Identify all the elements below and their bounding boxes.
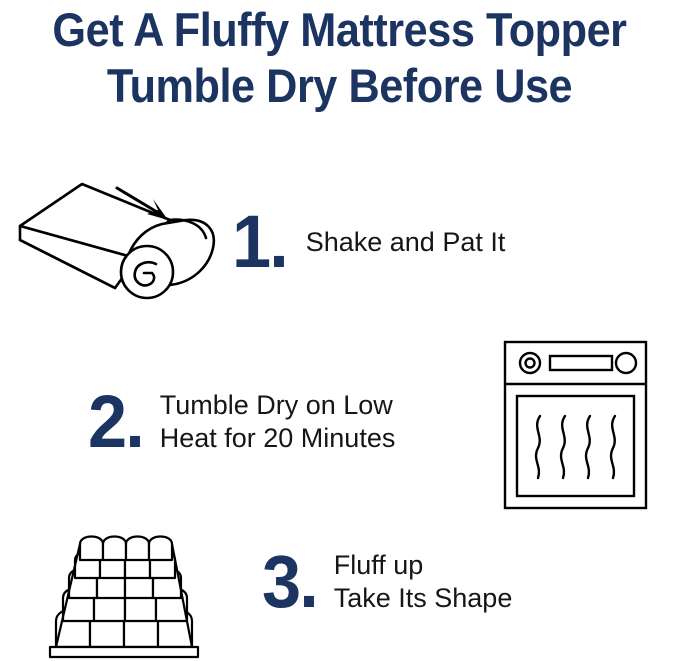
step-3-row: 3. Fluff up Take Its Shape	[262, 545, 512, 619]
tumble-dryer-illustration	[492, 330, 657, 520]
step-3-line-1: Fluff up	[334, 549, 513, 582]
title-line-2: Tumble Dry Before Use	[27, 58, 652, 114]
step-3-number: 3.	[262, 545, 317, 619]
egg-crate-foam-icon	[42, 505, 242, 660]
rolled-mattress-topper-icon	[10, 168, 225, 308]
step-3-line-2: Take Its Shape	[334, 582, 513, 615]
step-2-number: 2.	[88, 385, 143, 459]
page-title: Get A Fluffy Mattress Topper Tumble Dry …	[27, 2, 652, 114]
infographic-canvas: Get A Fluffy Mattress Topper Tumble Dry …	[0, 0, 679, 661]
step-3-text: Fluff up Take Its Shape	[334, 549, 513, 615]
title-line-1: Get A Fluffy Mattress Topper	[27, 2, 652, 58]
step-1-row: 1. Shake and Pat It	[232, 205, 505, 279]
step-1-line-1: Shake and Pat It	[306, 226, 506, 259]
step-2-row: 2. Tumble Dry on Low Heat for 20 Minutes	[88, 385, 395, 459]
egg-crate-topper-illustration	[42, 505, 242, 660]
rolled-mattress-topper-illustration	[10, 168, 225, 308]
step-2-line-2: Heat for 20 Minutes	[160, 422, 396, 455]
step-1-number: 1.	[232, 205, 287, 279]
step-2-line-1: Tumble Dry on Low	[160, 389, 396, 422]
step-1-text: Shake and Pat It	[306, 226, 506, 259]
step-2-text: Tumble Dry on Low Heat for 20 Minutes	[160, 389, 396, 455]
tumble-dryer-icon	[492, 330, 657, 520]
